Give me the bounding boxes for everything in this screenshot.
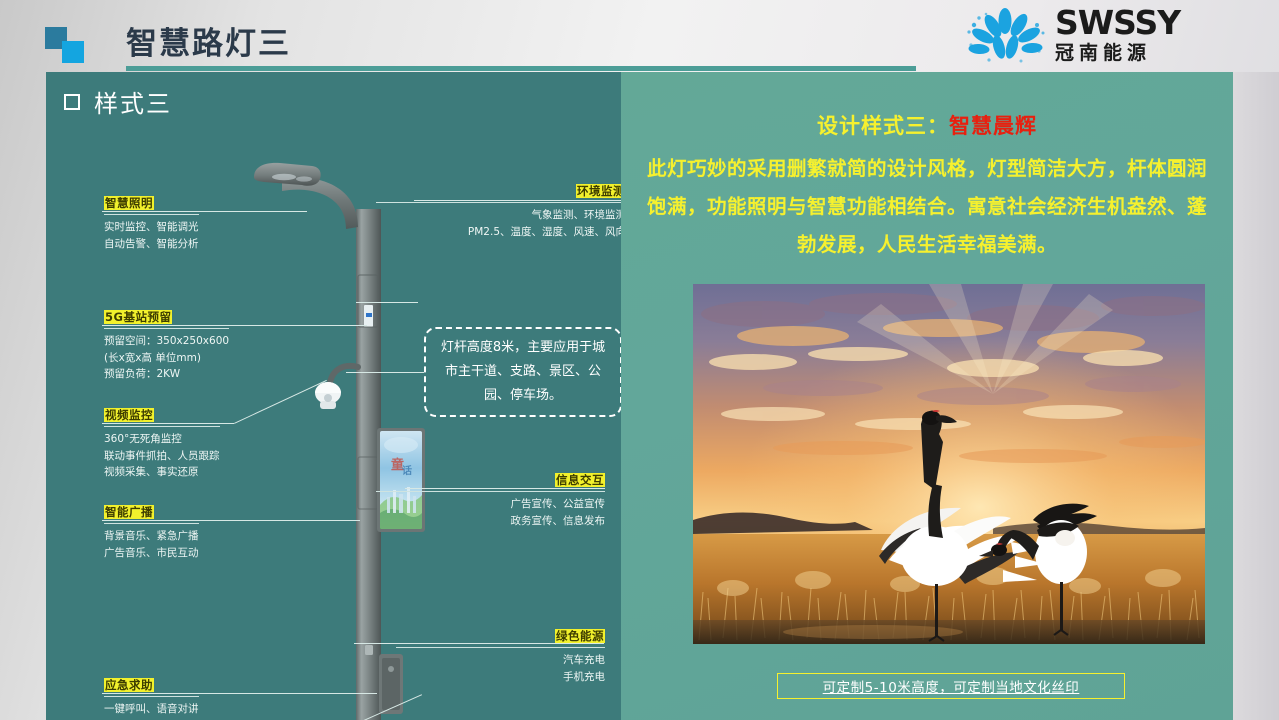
callout-rule bbox=[104, 328, 229, 329]
left-panel-heading: 样式三 bbox=[64, 84, 172, 119]
callout-line: 广告音乐、市民互动 bbox=[104, 545, 199, 562]
callout-line: 广告宣传、公益宣传 bbox=[376, 496, 605, 513]
callout-line: 气象监测、环境监测 bbox=[376, 207, 621, 224]
callout-title-environment-monitoring: 环境监测 bbox=[576, 184, 621, 198]
callout-rule bbox=[376, 491, 605, 492]
connector-line-note bbox=[346, 372, 424, 373]
logo-wordmark: SWSSY bbox=[1055, 6, 1180, 40]
page-title: 智慧路灯三 bbox=[126, 18, 291, 63]
callout-video-surveillance: 视频监控 360°无死角监控 联动事件抓拍、人员跟踪 视频采集、事实还原 bbox=[104, 406, 220, 481]
callout-line: 政务宣传、信息发布 bbox=[376, 513, 605, 530]
right-background-edge bbox=[1233, 72, 1279, 720]
callout-line: 360°无死角监控 bbox=[104, 431, 220, 448]
callout-title-smart-broadcast: 智能广播 bbox=[104, 505, 154, 519]
title-underline-rule bbox=[126, 66, 916, 71]
callout-smart-lighting: 智慧照明 实时监控、智能调光 自动告警、智能分析 bbox=[104, 194, 199, 252]
design-style-heading: 设计样式三：智慧晨辉 bbox=[621, 110, 1233, 140]
callout-line: 预留负荷：2KW bbox=[104, 366, 229, 383]
callout-rule bbox=[104, 426, 220, 427]
callout-environment-monitoring: 环境监测 气象监测、环境监测 PM2.5、温度、湿度、风速、风向 bbox=[376, 182, 621, 240]
callout-title-emergency-help: 应急求助 bbox=[104, 678, 154, 692]
callout-line: 实时监控、智能调光 bbox=[104, 219, 199, 236]
callout-emergency-help: 应急求助 一键呼叫、语音对讲 视频通话、紧急报警 bbox=[104, 676, 199, 720]
decor-square-light-icon bbox=[62, 41, 84, 63]
design-description-text: 此灯巧妙的采用删繁就简的设计风格，灯型简洁大方，杆体圆润饱满，功能照明与智慧功能… bbox=[639, 150, 1215, 264]
callout-rule bbox=[104, 214, 199, 215]
customization-caption-text: 可定制5-10米高度，可定制当地文化丝印 bbox=[823, 676, 1080, 696]
callout-line: 手机充电 bbox=[396, 669, 605, 686]
callout-line: 联动事件抓拍、人员跟踪 bbox=[104, 448, 220, 465]
left-panel-heading-label: 样式三 bbox=[94, 84, 172, 119]
crane-photo-frame bbox=[693, 284, 1205, 644]
slide-root: 智慧路灯三 bbox=[0, 0, 1279, 720]
callout-title-video-surveillance: 视频监控 bbox=[104, 408, 154, 422]
callout-rule bbox=[396, 647, 605, 648]
callout-line: PM2.5、温度、湿度、风速、风向 bbox=[376, 224, 621, 241]
callout-title-5g-base-station: 5G基站预留 bbox=[104, 310, 172, 324]
petal-flower-logo-icon bbox=[959, 7, 1051, 65]
crane-sunset-photo bbox=[693, 284, 1205, 644]
left-diagram-panel: 样式三 bbox=[46, 72, 621, 720]
callout-smart-broadcast: 智能广播 背景音乐、紧急广播 广告音乐、市民互动 bbox=[104, 503, 199, 561]
callout-title-information-interaction: 信息交互 bbox=[555, 473, 605, 487]
design-style-heading-name: 智慧晨辉 bbox=[949, 114, 1037, 138]
customization-caption-box: 可定制5-10米高度，可定制当地文化丝印 bbox=[777, 673, 1125, 699]
lamp-spec-note-box: 灯杆高度8米，主要应用于城市主干道、支路、景区、公园、停车场。 bbox=[424, 327, 621, 417]
slide-header: 智慧路灯三 bbox=[0, 0, 1279, 72]
callout-rule bbox=[104, 696, 199, 697]
callout-line: 自动告警、智能分析 bbox=[104, 236, 199, 253]
callout-line: 汽车充电 bbox=[396, 652, 605, 669]
callout-line: 一键呼叫、语音对讲 bbox=[104, 701, 199, 718]
callout-title-green-energy: 绿色能源 bbox=[555, 629, 605, 643]
callout-line: (长x宽x高 单位mm) bbox=[104, 350, 229, 367]
callout-line: 预留空间：350x250x600 bbox=[104, 333, 229, 350]
design-style-heading-prefix: 设计样式三： bbox=[817, 114, 949, 138]
brand-logo: SWSSY 冠南能源 bbox=[959, 6, 1221, 68]
logo-chinese-name: 冠南能源 bbox=[1055, 41, 1180, 65]
logo-text-block: SWSSY 冠南能源 bbox=[1055, 6, 1180, 65]
callout-green-energy: 绿色能源 汽车充电 手机充电 bbox=[396, 627, 605, 685]
callout-rule bbox=[376, 202, 621, 203]
callout-line: 视频采集、事实还原 bbox=[104, 464, 220, 481]
callout-title-smart-lighting: 智慧照明 bbox=[104, 196, 154, 210]
callout-line: 背景音乐、紧急广播 bbox=[104, 528, 199, 545]
square-outline-bullet-icon bbox=[64, 94, 80, 110]
lamp-spec-note-text: 灯杆高度8米，主要应用于城市主干道、支路、景区、公园、停车场。 bbox=[436, 336, 610, 408]
callout-information-interaction: 信息交互 广告宣传、公益宣传 政务宣传、信息发布 bbox=[376, 471, 605, 529]
connector-line-note-top bbox=[356, 302, 418, 303]
right-description-panel: 设计样式三：智慧晨辉 此灯巧妙的采用删繁就简的设计风格，灯型简洁大方，杆体圆润饱… bbox=[621, 72, 1233, 720]
callout-5g-base-station: 5G基站预留 预留空间：350x250x600 (长x宽x高 单位mm) 预留负… bbox=[104, 308, 229, 383]
callout-rule bbox=[104, 523, 199, 524]
